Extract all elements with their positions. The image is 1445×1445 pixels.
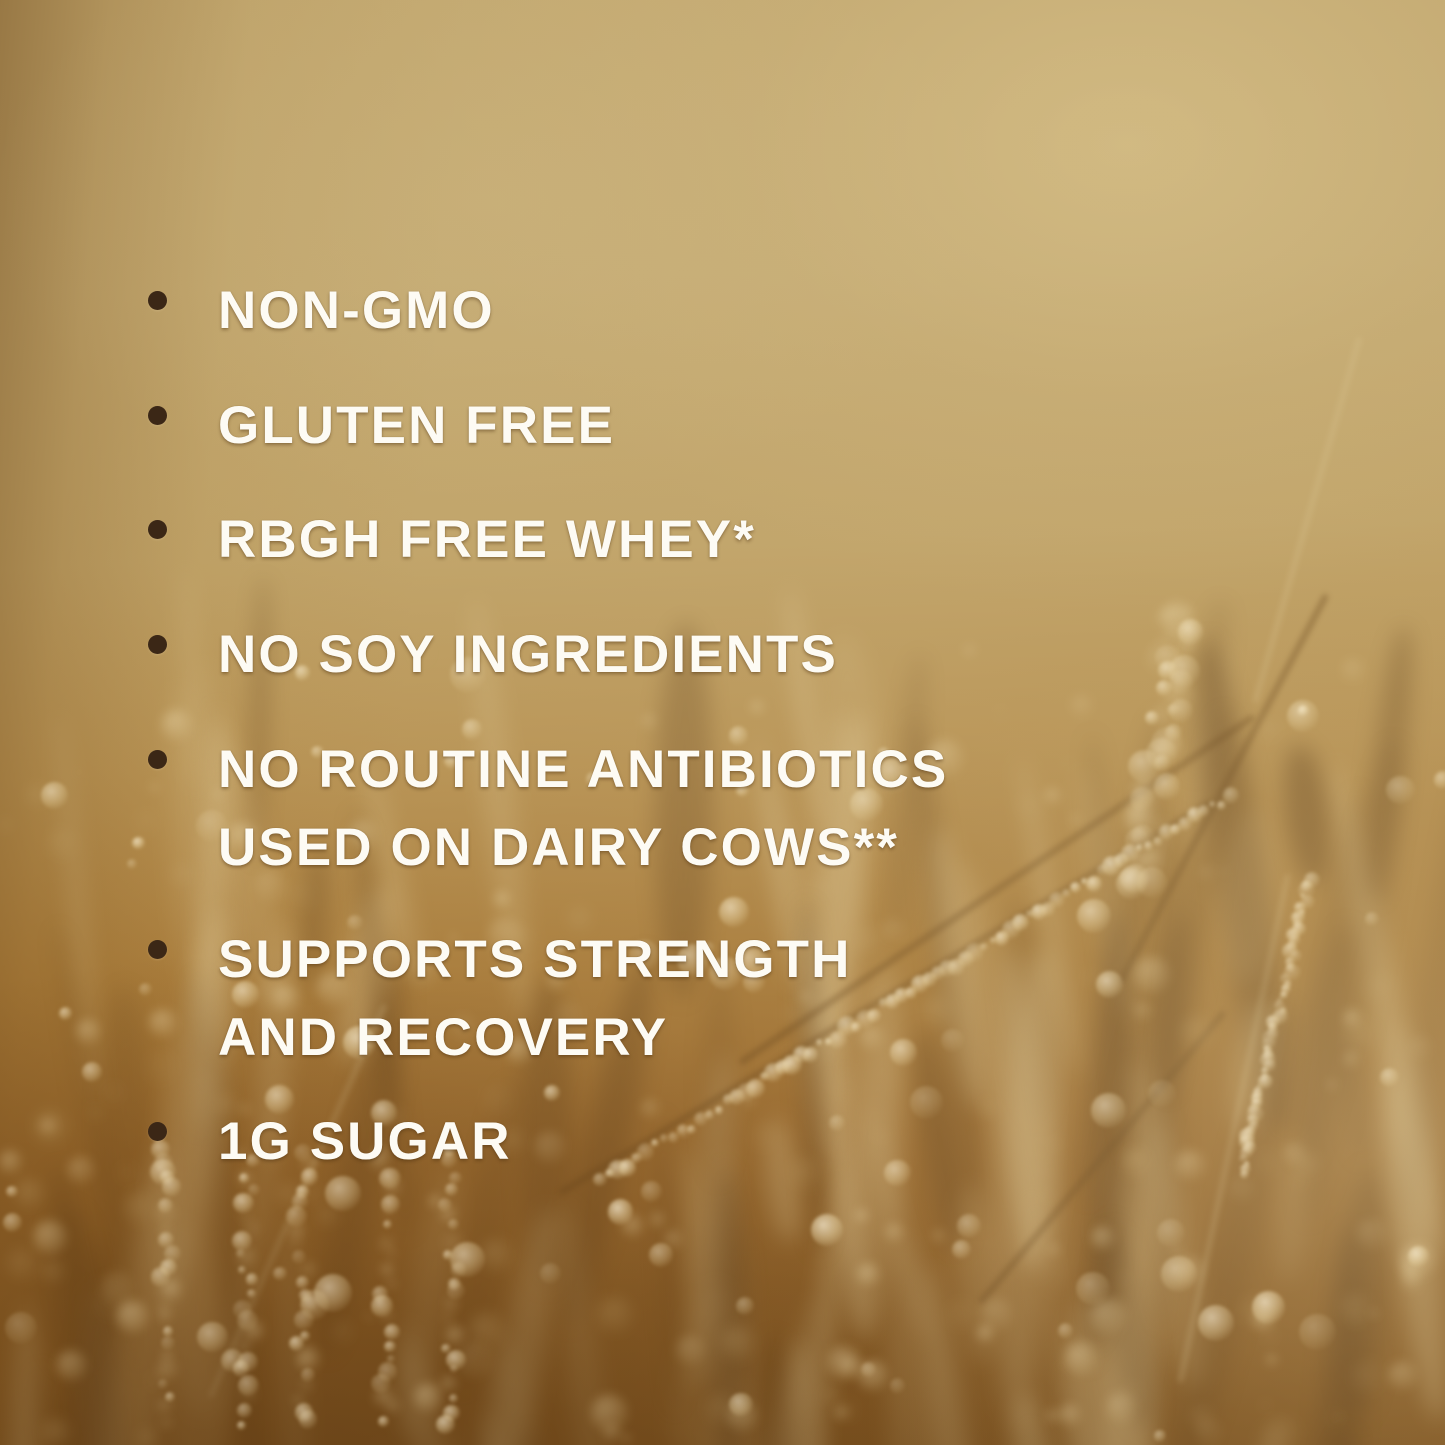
benefit-label: NON-GMO: [218, 272, 495, 350]
benefit-item-non-gmo: NON-GMO: [148, 272, 495, 350]
benefit-label: NO SOY INGREDIENTS: [218, 616, 838, 694]
benefit-item-gluten-free: GLUTEN FREE: [148, 387, 615, 465]
benefit-item-no-antibiotics: NO ROUTINE ANTIBIOTICS USED ON DAIRY COW…: [148, 731, 948, 887]
benefit-label: 1G SUGAR: [218, 1103, 512, 1181]
product-benefits-panel: NON-GMOGLUTEN FREERBGH FREE WHEY*NO SOY …: [0, 0, 1445, 1445]
benefit-label: SUPPORTS STRENGTH AND RECOVERY: [218, 921, 851, 1077]
bullet-dot-icon: [148, 520, 167, 539]
bullet-dot-icon: [148, 750, 167, 769]
benefit-label: GLUTEN FREE: [218, 387, 615, 465]
bullet-dot-icon: [148, 940, 167, 959]
bullet-dot-icon: [148, 1122, 167, 1141]
bullet-dot-icon: [148, 291, 167, 310]
bullet-dot-icon: [148, 635, 167, 654]
benefit-label: NO ROUTINE ANTIBIOTICS USED ON DAIRY COW…: [218, 731, 948, 887]
benefit-item-sugar: 1G SUGAR: [148, 1103, 512, 1181]
benefit-item-strength: SUPPORTS STRENGTH AND RECOVERY: [148, 921, 851, 1077]
benefit-label: RBGH FREE WHEY*: [218, 501, 756, 579]
benefit-item-rbgh-free-whey: RBGH FREE WHEY*: [148, 501, 756, 579]
benefits-list: NON-GMOGLUTEN FREERBGH FREE WHEY*NO SOY …: [0, 0, 1445, 1445]
bullet-dot-icon: [148, 406, 167, 425]
benefit-item-no-soy: NO SOY INGREDIENTS: [148, 616, 838, 694]
